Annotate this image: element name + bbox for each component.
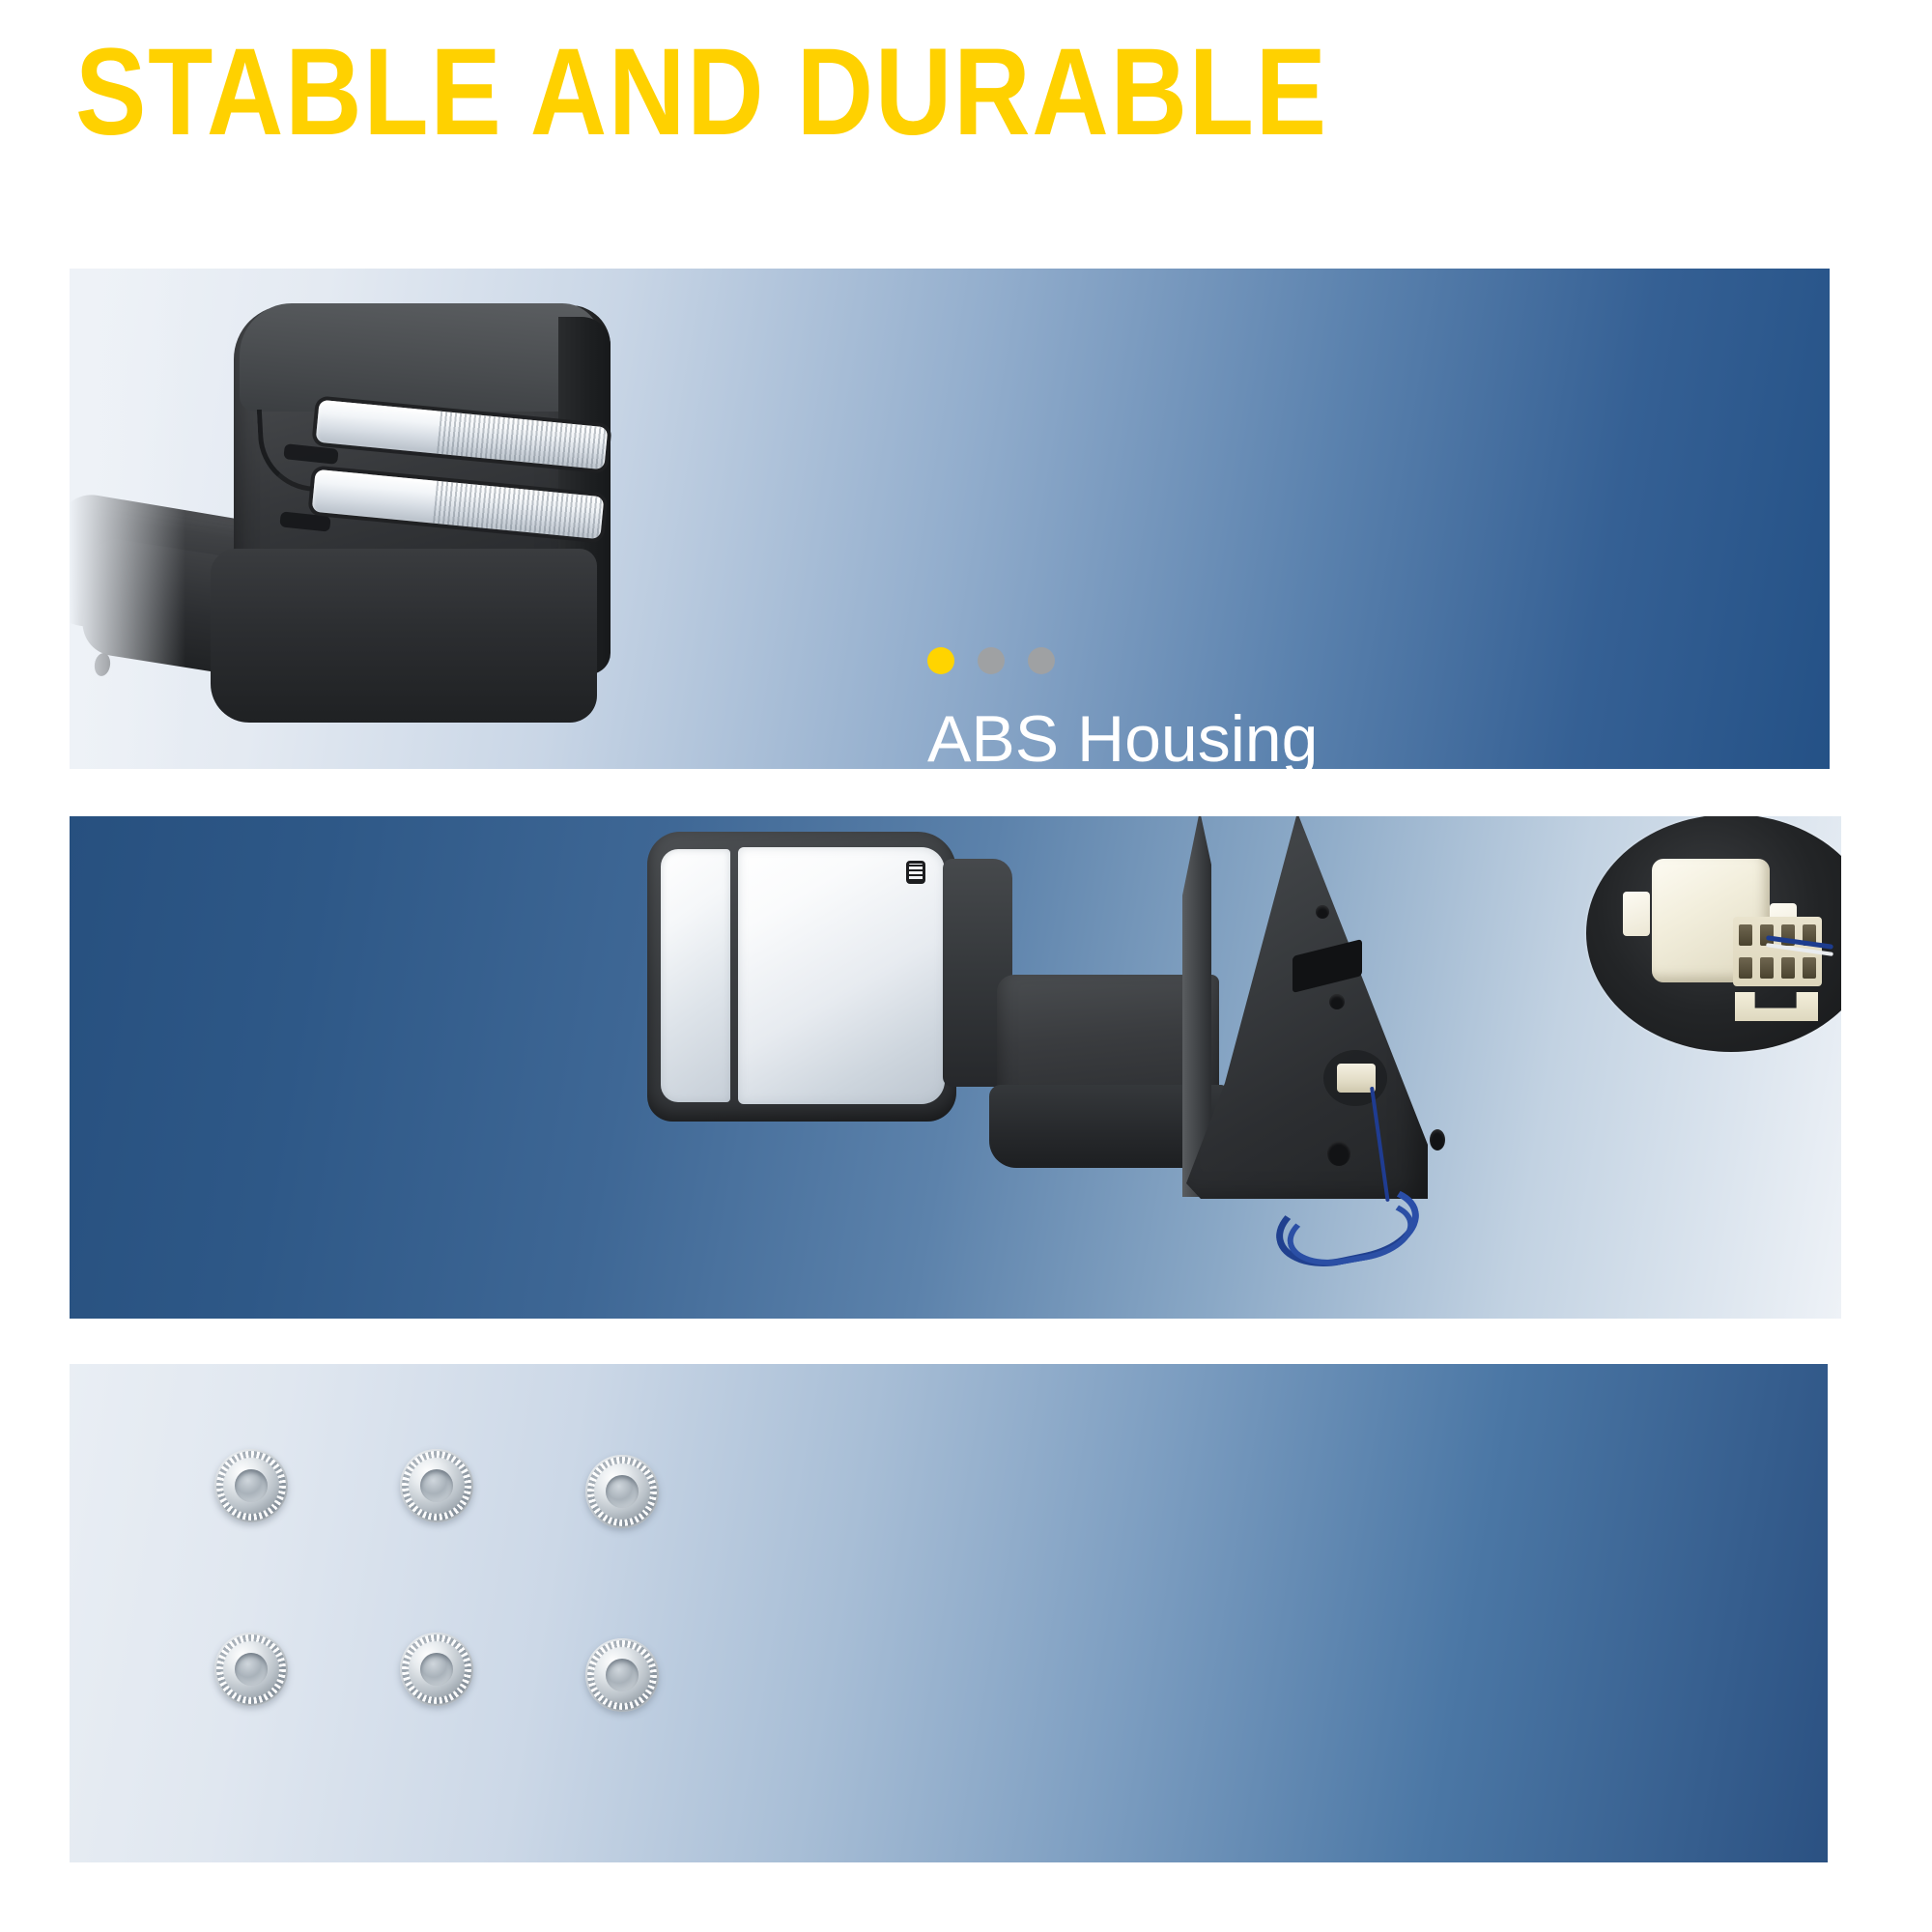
connector-pin [1803,957,1816,979]
feature-heading: ABS Housing [927,699,1599,769]
mounting-nuts-photo [214,1449,717,1797]
flange-nut [585,1455,659,1528]
step-dot-3 [1028,647,1055,674]
mirror-assembly-photo [611,816,1841,1319]
housing-shell-lower [211,549,597,723]
mirror-housing-photo [70,269,765,769]
connector-latch [1735,992,1818,1021]
connector-body [1652,859,1770,982]
feature-panel-triangular-base: Triangular Base firm and stable to avoid… [70,816,1841,1319]
connector-closeup-inset [1586,816,1841,1052]
connector-tab-left [1623,892,1650,936]
feature-panel-easy-installation: Easy installation plug-and-play design, … [70,1364,1828,1862]
base-bolt-hole [1329,994,1345,1009]
feature-panel-abs-housing: ABS Housing wear-resistant and heat-resi… [70,269,1830,769]
flange-nut [214,1449,288,1522]
flange-nut [585,1638,659,1712]
connector-pin [1739,924,1752,946]
arm-pivot-icon [93,652,112,677]
infographic-page: STABLE AND DURABLE ABS Housing [0,0,1932,1932]
page-title: STABLE AND DURABLE [75,35,1604,151]
flange-nut [214,1633,288,1706]
step-dot-1 [927,647,954,674]
base-bolt-hole [1316,905,1329,919]
feature-text-abs-housing: ABS Housing wear-resistant and heat-resi… [927,647,1599,769]
connector-pin [1760,957,1774,979]
mirror-glass-main [738,847,945,1104]
mirror-glass-spotter [661,849,730,1102]
connector-pin [1781,957,1795,979]
housing-shell-top [240,303,601,412]
step-dot-2 [978,647,1005,674]
base-bolt-hole [1430,1129,1445,1151]
step-indicator-dots [927,647,1599,674]
connector-pin [1739,957,1752,979]
base-bolt-hole [1327,1141,1350,1166]
flange-nut [400,1633,473,1706]
heated-mirror-icon [906,861,925,884]
flange-nut [400,1449,473,1522]
triangular-mounting-base [1186,816,1428,1199]
